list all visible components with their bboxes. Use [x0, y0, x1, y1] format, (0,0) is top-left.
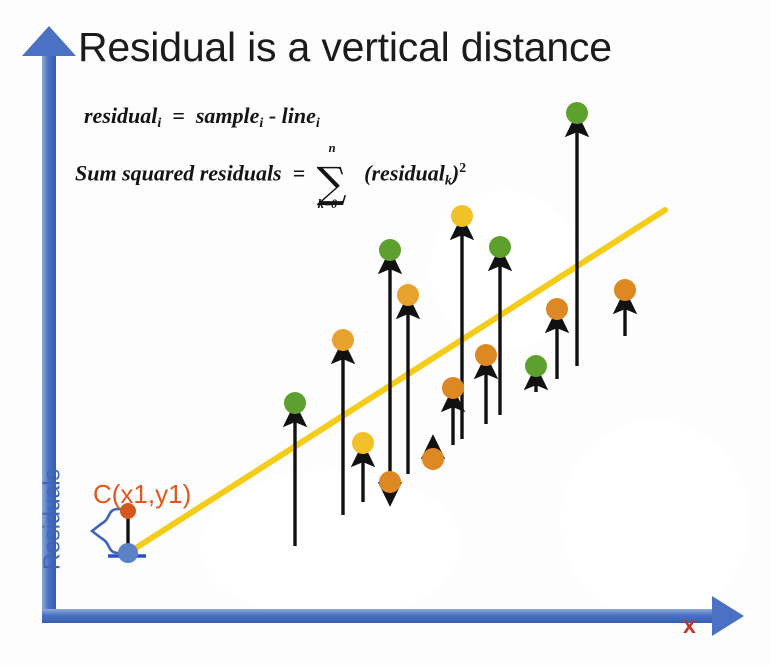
data-point [379, 471, 401, 493]
data-point [284, 392, 306, 414]
data-point [566, 102, 588, 124]
data-points-group [284, 102, 636, 493]
regression-line-group [128, 210, 665, 553]
data-point [332, 329, 354, 351]
data-point [614, 279, 636, 301]
data-point [475, 344, 497, 366]
data-point [451, 205, 473, 227]
data-point [442, 377, 464, 399]
regression-line [128, 210, 665, 553]
data-point [422, 448, 444, 470]
scatter-plot [0, 0, 771, 665]
highlight-point-label: C(x1,y1) [93, 479, 191, 510]
data-point [489, 236, 511, 258]
residual-brace-icon [92, 509, 118, 553]
highlight-line-dot [118, 543, 138, 563]
data-point [525, 355, 547, 377]
data-point [379, 239, 401, 261]
data-point [546, 298, 568, 320]
slide-canvas: x Residuals Residual is a vertical dista… [0, 0, 771, 665]
data-point [352, 432, 374, 454]
data-point [397, 284, 419, 306]
highlighted-point-group [92, 503, 146, 563]
